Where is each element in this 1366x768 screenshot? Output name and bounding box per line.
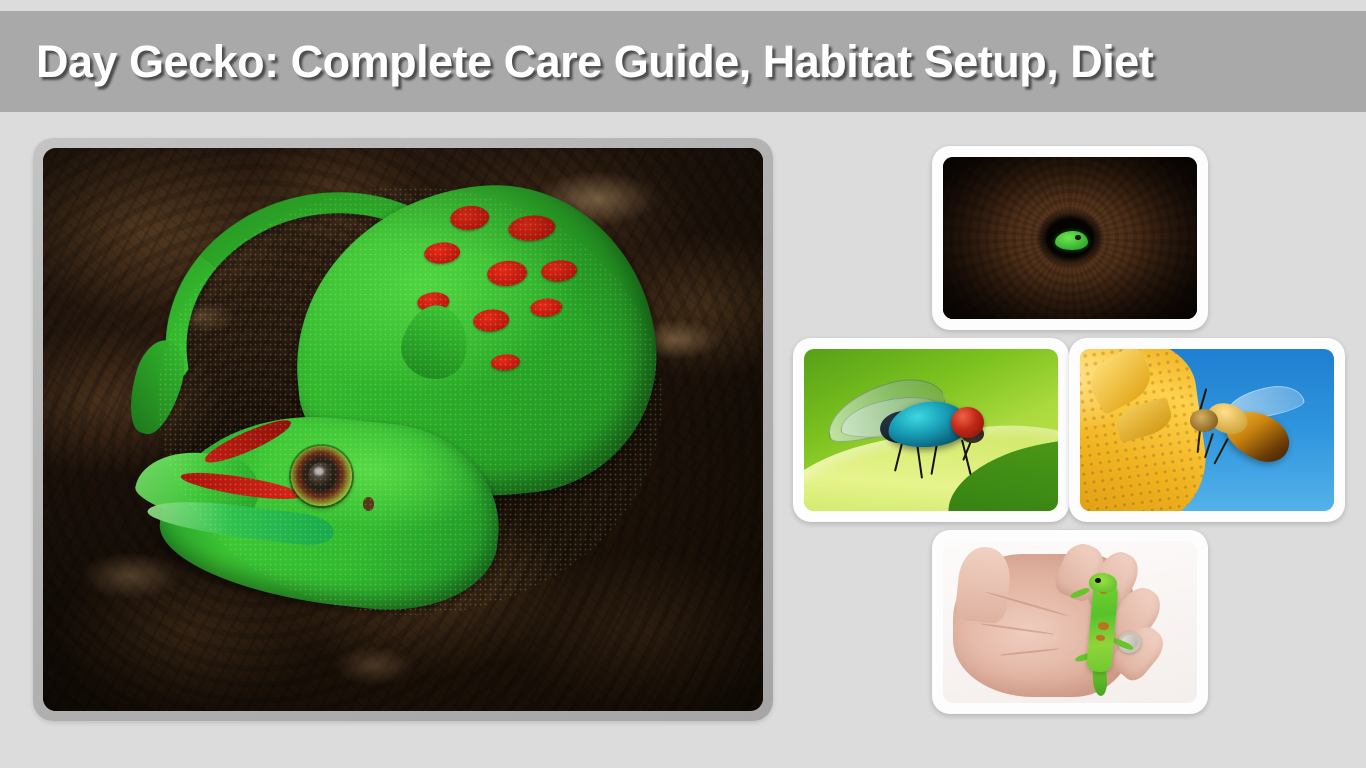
thumbnail-gecko-held-in-hand[interactable] [932,530,1208,714]
page-title: Day Gecko: Complete Care Guide, Habitat … [36,36,1153,88]
thumbnail-green-bottle-fly[interactable] [793,338,1069,522]
thumbnail-gecko-in-tree-hollow[interactable] [932,146,1208,330]
vignette-overlay [43,148,763,711]
thumbnail-image[interactable] [943,157,1197,319]
thumbnail-image[interactable] [943,541,1197,703]
gecko-spot [1096,635,1106,641]
page-header: Day Gecko: Complete Care Guide, Habitat … [0,11,1366,112]
gecko-spot [1098,622,1110,630]
hero-image-frame[interactable] [33,138,773,721]
thumbnail-honey-bee-on-sunflower[interactable] [1069,338,1345,522]
vignette-overlay [943,157,1197,319]
hero-image[interactable] [43,148,763,711]
thumbnail-image[interactable] [804,349,1058,511]
bee-head [1190,409,1218,432]
thumbnail-image[interactable] [1080,349,1334,511]
